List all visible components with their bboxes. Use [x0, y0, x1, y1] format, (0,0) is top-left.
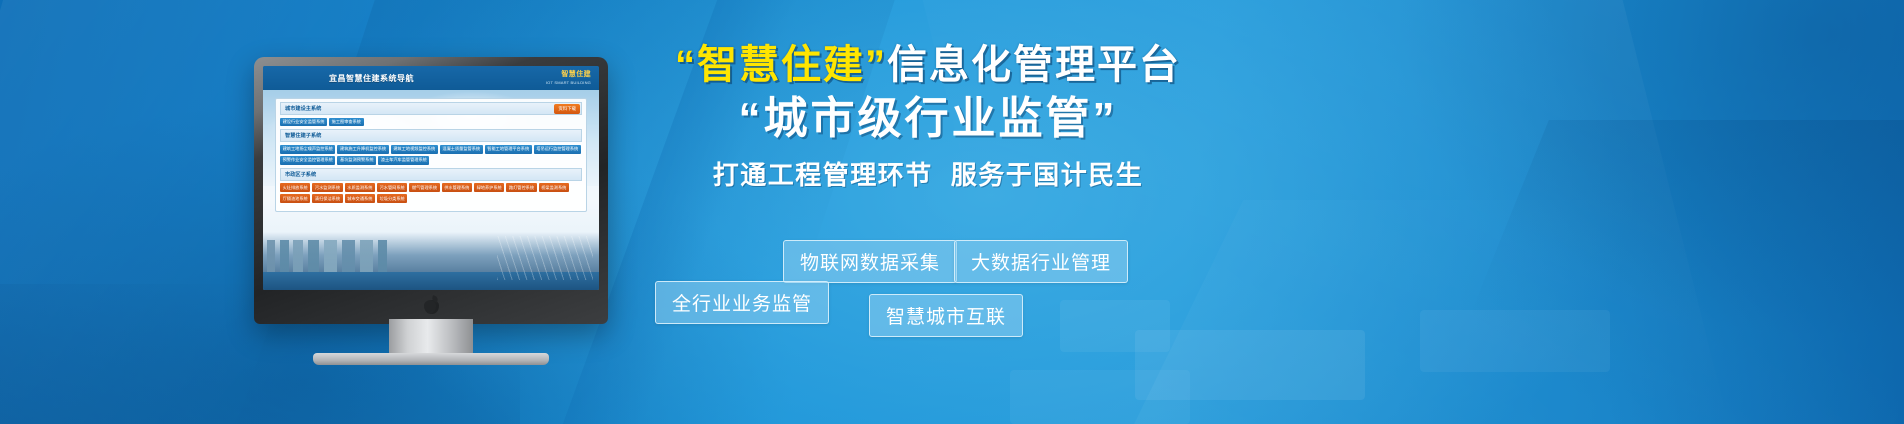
module-chip[interactable]: 城市交通系统: [345, 194, 375, 203]
module-chip[interactable]: 绿地养护系统: [474, 183, 504, 192]
module-chip[interactable]: 污水管网系统: [377, 183, 407, 192]
module-chip[interactable]: 桥梁监测系统: [539, 183, 569, 192]
module-chip[interactable]: 清扫保洁系统: [312, 194, 342, 203]
monitor-bezel: 宜昌智慧住建系统导航 智慧住建 IOT SMART BUILDING 资料下载 …: [254, 57, 608, 324]
headline-line-3: 打通工程管理环节服务于国计民生: [648, 155, 1208, 192]
feature-tag-bigdata-industry-management[interactable]: 大数据行业管理: [954, 240, 1128, 283]
app-module-panel: 资料下载 城市建设主系统 建设行业安全监管系统 施工图审查系统 智慧住建子系统 …: [275, 98, 587, 212]
download-button[interactable]: 资料下载: [554, 104, 580, 114]
app-logo-secondary: IOT SMART BUILDING: [546, 80, 591, 85]
headline-quote-open: “: [675, 43, 697, 87]
module-chip[interactable]: 供水管理系统: [442, 183, 472, 192]
module-chip[interactable]: 建筑工地视频监控系统: [391, 145, 438, 154]
headline-block: “智慧住建”信息化管理平台 “城市级行业监管” 打通工程管理环节服务于国计民生: [648, 44, 1208, 192]
monitor-stand-neck: [389, 319, 473, 355]
decorative-plate: [1420, 310, 1610, 372]
monitor-screen: 宜昌智慧住建系统导航 智慧住建 IOT SMART BUILDING 资料下载 …: [263, 66, 599, 290]
app-screen-body: 资料下载 城市建设主系统 建设行业安全监管系统 施工图审查系统 智慧住建子系统 …: [263, 90, 599, 290]
module-chip[interactable]: 智能工地管理平台系统: [485, 145, 532, 154]
module-chip[interactable]: 建筑施工升降机监控系统: [337, 145, 388, 154]
module-chip-row: 火灶排放系统 污水监测系统 水质监测系统 污水管网系统 燃气管理系统 供水管理系…: [280, 183, 582, 203]
headline-rest-text: 信息化管理平台: [887, 43, 1181, 87]
module-chip[interactable]: 施工图审查系统: [329, 118, 364, 127]
decorative-plate: [1060, 300, 1170, 352]
module-chip-row: 建筑工地扬尘噪声监控系统 建筑施工升降机监控系统 建筑工地视频监控系统 混凝土质…: [280, 145, 582, 165]
headline-highlight-text: 智慧住建: [697, 43, 865, 87]
app-screen-header: 宜昌智慧住建系统导航 智慧住建 IOT SMART BUILDING: [263, 66, 599, 90]
headline-line-1: “智慧住建”信息化管理平台: [648, 44, 1208, 87]
module-group-title: 市政区子系统: [280, 168, 582, 181]
screen-bridge-backdrop: [497, 236, 593, 280]
module-group-title: 城市建设主系统: [280, 102, 582, 115]
module-chip[interactable]: 混凝土质量监管系统: [440, 145, 483, 154]
headline-quote-close: ”: [865, 43, 887, 87]
module-chip[interactable]: 塔吊运行监控管理系统: [534, 145, 581, 154]
module-chip[interactable]: 火灶排放系统: [280, 183, 310, 192]
module-chip[interactable]: 厅隔油池系统: [280, 194, 310, 203]
module-chip[interactable]: 路灯管控系统: [506, 183, 536, 192]
app-screen-title: 宜昌智慧住建系统导航: [329, 73, 414, 84]
module-chip[interactable]: 基坑监测预警系统: [337, 156, 376, 165]
module-chip[interactable]: 水质监测系统: [345, 183, 375, 192]
apple-logo-icon: [424, 297, 439, 314]
module-chip[interactable]: 燃气管理系统: [409, 183, 439, 192]
module-chip[interactable]: 渣土车汽车监管管理系统: [378, 156, 429, 165]
app-screen-logo: 智慧住建 IOT SMART BUILDING: [546, 69, 591, 85]
module-chip[interactable]: 建筑工地扬尘噪声监控系统: [280, 145, 335, 154]
feature-tag-all-industry-supervision[interactable]: 全行业业务监管: [655, 281, 829, 324]
feature-tag-iot-data-collection[interactable]: 物联网数据采集: [783, 240, 957, 283]
monitor-chin: [263, 292, 599, 318]
feature-tag-smart-city-interconnect[interactable]: 智慧城市互联: [869, 294, 1023, 337]
module-chip[interactable]: 垃圾分类系统: [377, 194, 407, 203]
subheadline-part-1: 打通工程管理环节: [713, 160, 933, 190]
app-logo-primary: 智慧住建: [561, 69, 591, 79]
module-chip[interactable]: 预警作业安全监控管理系统: [280, 156, 335, 165]
monitor-stand-foot: [313, 353, 549, 365]
headline-line-2: “城市级行业监管”: [648, 95, 1208, 143]
promo-banner: 宜昌智慧住建系统导航 智慧住建 IOT SMART BUILDING 资料下载 …: [0, 0, 1904, 424]
decorative-plate: [1010, 370, 1190, 424]
subheadline-part-2: 服务于国计民生: [951, 160, 1144, 190]
imac-mockup: 宜昌智慧住建系统导航 智慧住建 IOT SMART BUILDING 资料下载 …: [254, 57, 608, 324]
module-chip-row: 建设行业安全监管系统 施工图审查系统: [280, 118, 582, 127]
module-chip[interactable]: 建设行业安全监管系统: [280, 118, 327, 127]
module-group-title: 智慧住建子系统: [280, 129, 582, 142]
module-chip[interactable]: 污水监测系统: [312, 183, 342, 192]
